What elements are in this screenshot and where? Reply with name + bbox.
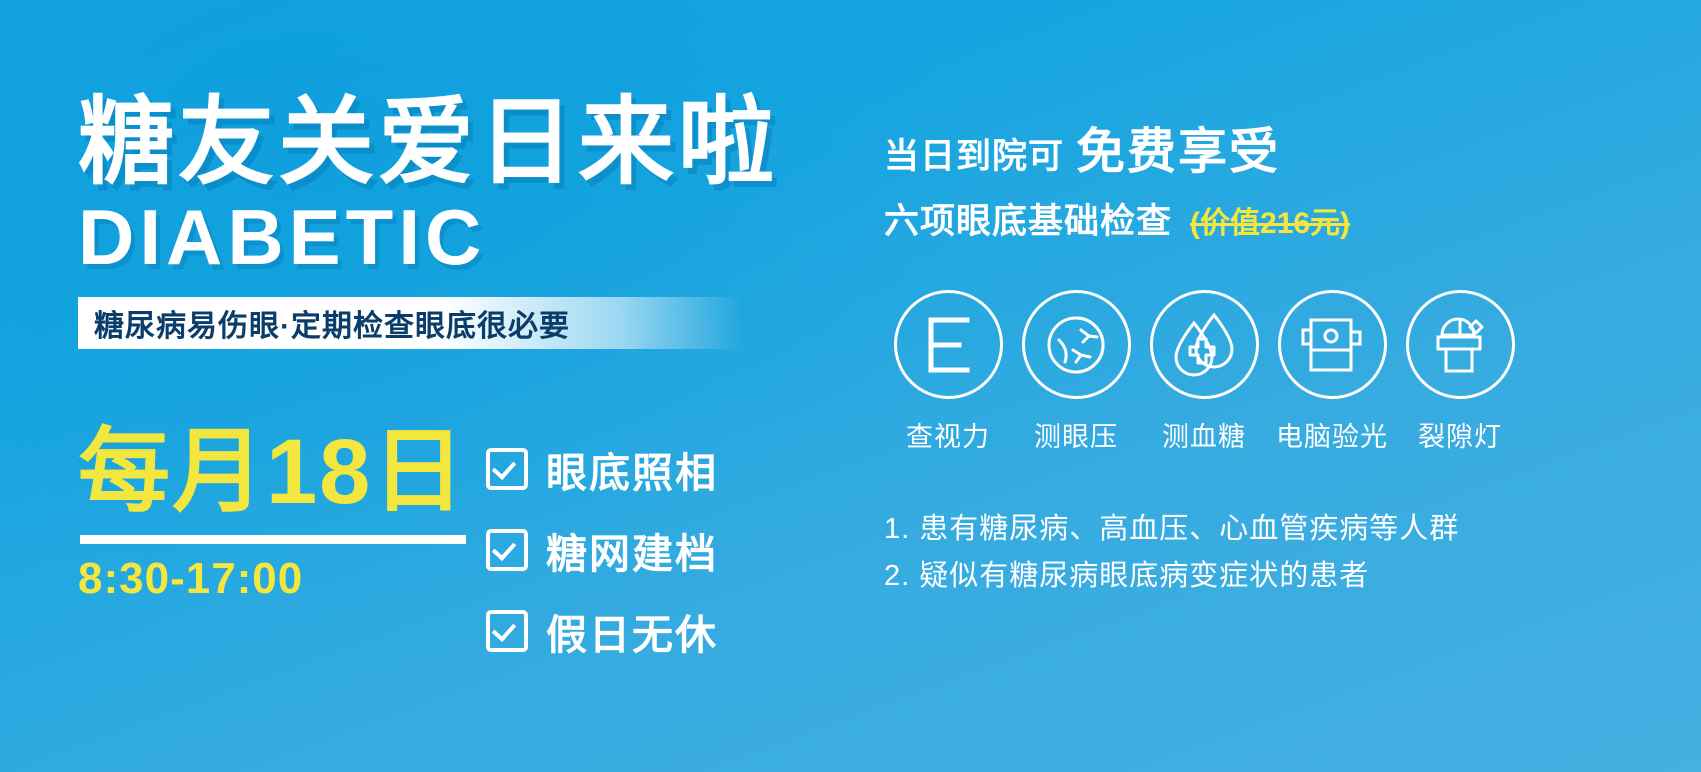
- service-label: 裂隙灯: [1396, 415, 1524, 454]
- blood-drop-cross-icon: [1150, 290, 1259, 399]
- promo-banner: 糖友关爱日来啦 DIABETIC 糖尿病易伤眼·定期检查眼底很必要 每月18日 …: [0, 0, 1701, 772]
- note-item: 1. 患有糖尿病、高血压、心血管疾病等人群: [884, 506, 1584, 553]
- headline-english: DIABETIC: [78, 200, 838, 275]
- autorefractor-icon: [1278, 290, 1387, 399]
- service-item-vision: 查视力: [884, 290, 1012, 454]
- checkbox-checked-icon: [486, 610, 528, 652]
- promo-description: 六项眼底基础检查: [884, 193, 1172, 244]
- list-item: 眼底照相: [486, 439, 718, 499]
- service-item-autorefraction: 电脑验光: [1268, 290, 1396, 454]
- left-content-block: 糖友关爱日来啦 DIABETIC 糖尿病易伤眼·定期检查眼底很必要: [78, 92, 838, 349]
- service-label: 查视力: [884, 415, 1012, 454]
- service-checklist: 眼底照相 糖网建档 假日无休: [486, 425, 718, 661]
- checkbox-checked-icon: [486, 529, 528, 571]
- subtitle-bar: 糖尿病易伤眼·定期检查眼底很必要: [78, 297, 743, 349]
- slit-lamp-icon: [1406, 290, 1515, 399]
- divider-rule: [80, 535, 466, 544]
- checklist-label: 假日无休: [546, 601, 718, 661]
- date-column: 每月18日 8:30-17:00: [78, 425, 468, 661]
- promo-highlight: 免费享受: [1076, 112, 1280, 183]
- service-label: 电脑验光: [1268, 415, 1396, 454]
- service-icon-row: 查视力 测眼压: [884, 290, 1584, 454]
- event-date: 每月18日: [78, 425, 468, 521]
- service-item-slit-lamp: 裂隙灯: [1396, 290, 1524, 454]
- eligibility-notes: 1. 患有糖尿病、高血压、心血管疾病等人群 2. 疑似有糖尿病眼底病变症状的患者: [884, 506, 1584, 600]
- promo-line-1: 当日到院可 免费享受: [884, 112, 1584, 183]
- promo-prefix: 当日到院可: [884, 128, 1064, 179]
- service-item-eye-pressure: 测眼压: [1012, 290, 1140, 454]
- promo-line-2: 六项眼底基础检查 (价值216元): [884, 193, 1584, 244]
- service-label: 测血糖: [1140, 415, 1268, 454]
- eye-chart-e-icon: [894, 290, 1003, 399]
- subtitle-text: 糖尿病易伤眼·定期检查眼底很必要: [78, 301, 570, 345]
- promo-original-price: (价值216元): [1190, 198, 1350, 242]
- checkbox-checked-icon: [486, 448, 528, 490]
- service-label: 测眼压: [1012, 415, 1140, 454]
- schedule-and-checklist: 每月18日 8:30-17:00 眼底照相 糖网建档 假日无休: [78, 425, 858, 661]
- checklist-label: 糖网建档: [546, 520, 718, 580]
- service-item-blood-sugar: 测血糖: [1140, 290, 1268, 454]
- checklist-label: 眼底照相: [546, 439, 718, 499]
- list-item: 糖网建档: [486, 520, 718, 580]
- note-item: 2. 疑似有糖尿病眼底病变症状的患者: [884, 553, 1584, 600]
- right-content-block: 当日到院可 免费享受 六项眼底基础检查 (价值216元) 查视力: [884, 112, 1584, 600]
- eyeball-icon: [1022, 290, 1131, 399]
- event-time: 8:30-17:00: [78, 554, 468, 604]
- headline-chinese: 糖友关爱日来啦: [78, 92, 838, 194]
- list-item: 假日无休: [486, 601, 718, 661]
